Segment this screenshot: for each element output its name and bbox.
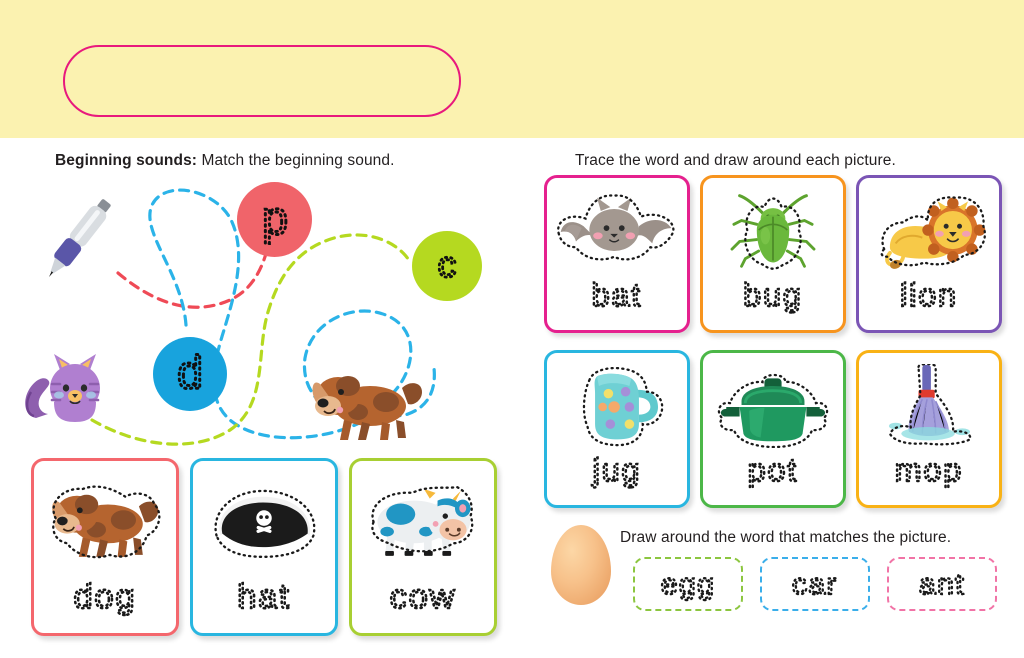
wordbox-egg[interactable]: egg	[633, 557, 743, 611]
draw-around-instruction: Draw around the word that matches the pi…	[620, 529, 951, 547]
word-text-bug: bug	[743, 277, 802, 313]
card-word-lion: lion	[859, 276, 999, 324]
pot-sticker	[703, 359, 843, 453]
puppy-sticker	[34, 467, 176, 574]
wordbox-car[interactable]: car	[760, 557, 870, 611]
word-text-cow: cow	[390, 578, 456, 616]
card-word-dog: dog	[34, 575, 176, 627]
svg-text:c: c	[438, 243, 457, 285]
header-band	[0, 0, 1024, 138]
mop-sticker	[859, 359, 999, 453]
card-word-bug: bug	[703, 276, 843, 324]
word-text-car: car	[792, 568, 838, 601]
card-cow[interactable]: cow	[349, 458, 497, 636]
card-mop[interactable]: mop	[856, 350, 1002, 508]
instruction-label-bold: Beginning sounds:	[55, 152, 197, 169]
card-word-mop: mop	[859, 451, 999, 499]
svg-text:p: p	[262, 192, 288, 244]
beginning-sounds-instruction: Beginning sounds: Match the beginning so…	[55, 152, 395, 170]
card-hat[interactable]: hat	[190, 458, 338, 636]
bat-sticker	[547, 184, 687, 278]
letter-circle-c[interactable]: c	[412, 231, 482, 301]
card-lion[interactable]: lion	[856, 175, 1002, 333]
card-bug[interactable]: bug	[700, 175, 846, 333]
cow-sticker	[352, 467, 494, 574]
trace-instruction: Trace the word and draw around each pict…	[575, 152, 896, 170]
dotted-letter-d: d	[160, 344, 220, 404]
word-text-hat: hat	[237, 578, 290, 616]
pen-icon	[34, 188, 130, 288]
puppy-illustration	[310, 358, 435, 448]
card-bat[interactable]: bat	[544, 175, 690, 333]
card-word-jug: jug	[547, 451, 687, 499]
card-dog[interactable]: dog	[31, 458, 179, 636]
word-text-bat: bat	[592, 277, 642, 313]
beetle-sticker	[703, 184, 843, 278]
word-text-lion: lion	[900, 277, 958, 313]
word-text-pot: pot	[748, 452, 798, 488]
word-text-mop: mop	[895, 452, 963, 488]
card-word-pot: pot	[703, 451, 843, 499]
card-jug[interactable]: jug	[544, 350, 690, 508]
dotted-letter-p: p	[245, 190, 305, 250]
word-text-dog: dog	[74, 578, 137, 616]
letter-circle-d[interactable]: d	[153, 337, 227, 411]
cat-illustration	[18, 330, 123, 435]
letter-circle-p[interactable]: p	[237, 182, 312, 257]
svg-text:d: d	[177, 346, 203, 398]
name-entry-box[interactable]	[63, 45, 461, 117]
card-word-cow: cow	[352, 575, 494, 627]
word-text-jug: jug	[592, 452, 642, 488]
pirate-hat-sticker	[193, 467, 335, 574]
card-word-bat: bat	[547, 276, 687, 324]
word-text-ant: ant	[919, 568, 965, 601]
card-pot[interactable]: pot	[700, 350, 846, 508]
jug-sticker	[547, 359, 687, 453]
instruction-label-rest: Match the beginning sound.	[197, 152, 394, 169]
dotted-letter-c: c	[419, 238, 475, 294]
card-word-hat: hat	[193, 575, 335, 627]
worksheet-page: Beginning sounds: Match the beginning so…	[0, 0, 1024, 658]
egg-illustration	[551, 525, 611, 605]
wordbox-ant[interactable]: ant	[887, 557, 997, 611]
lion-sticker	[859, 184, 999, 278]
word-text-egg: egg	[661, 568, 716, 601]
